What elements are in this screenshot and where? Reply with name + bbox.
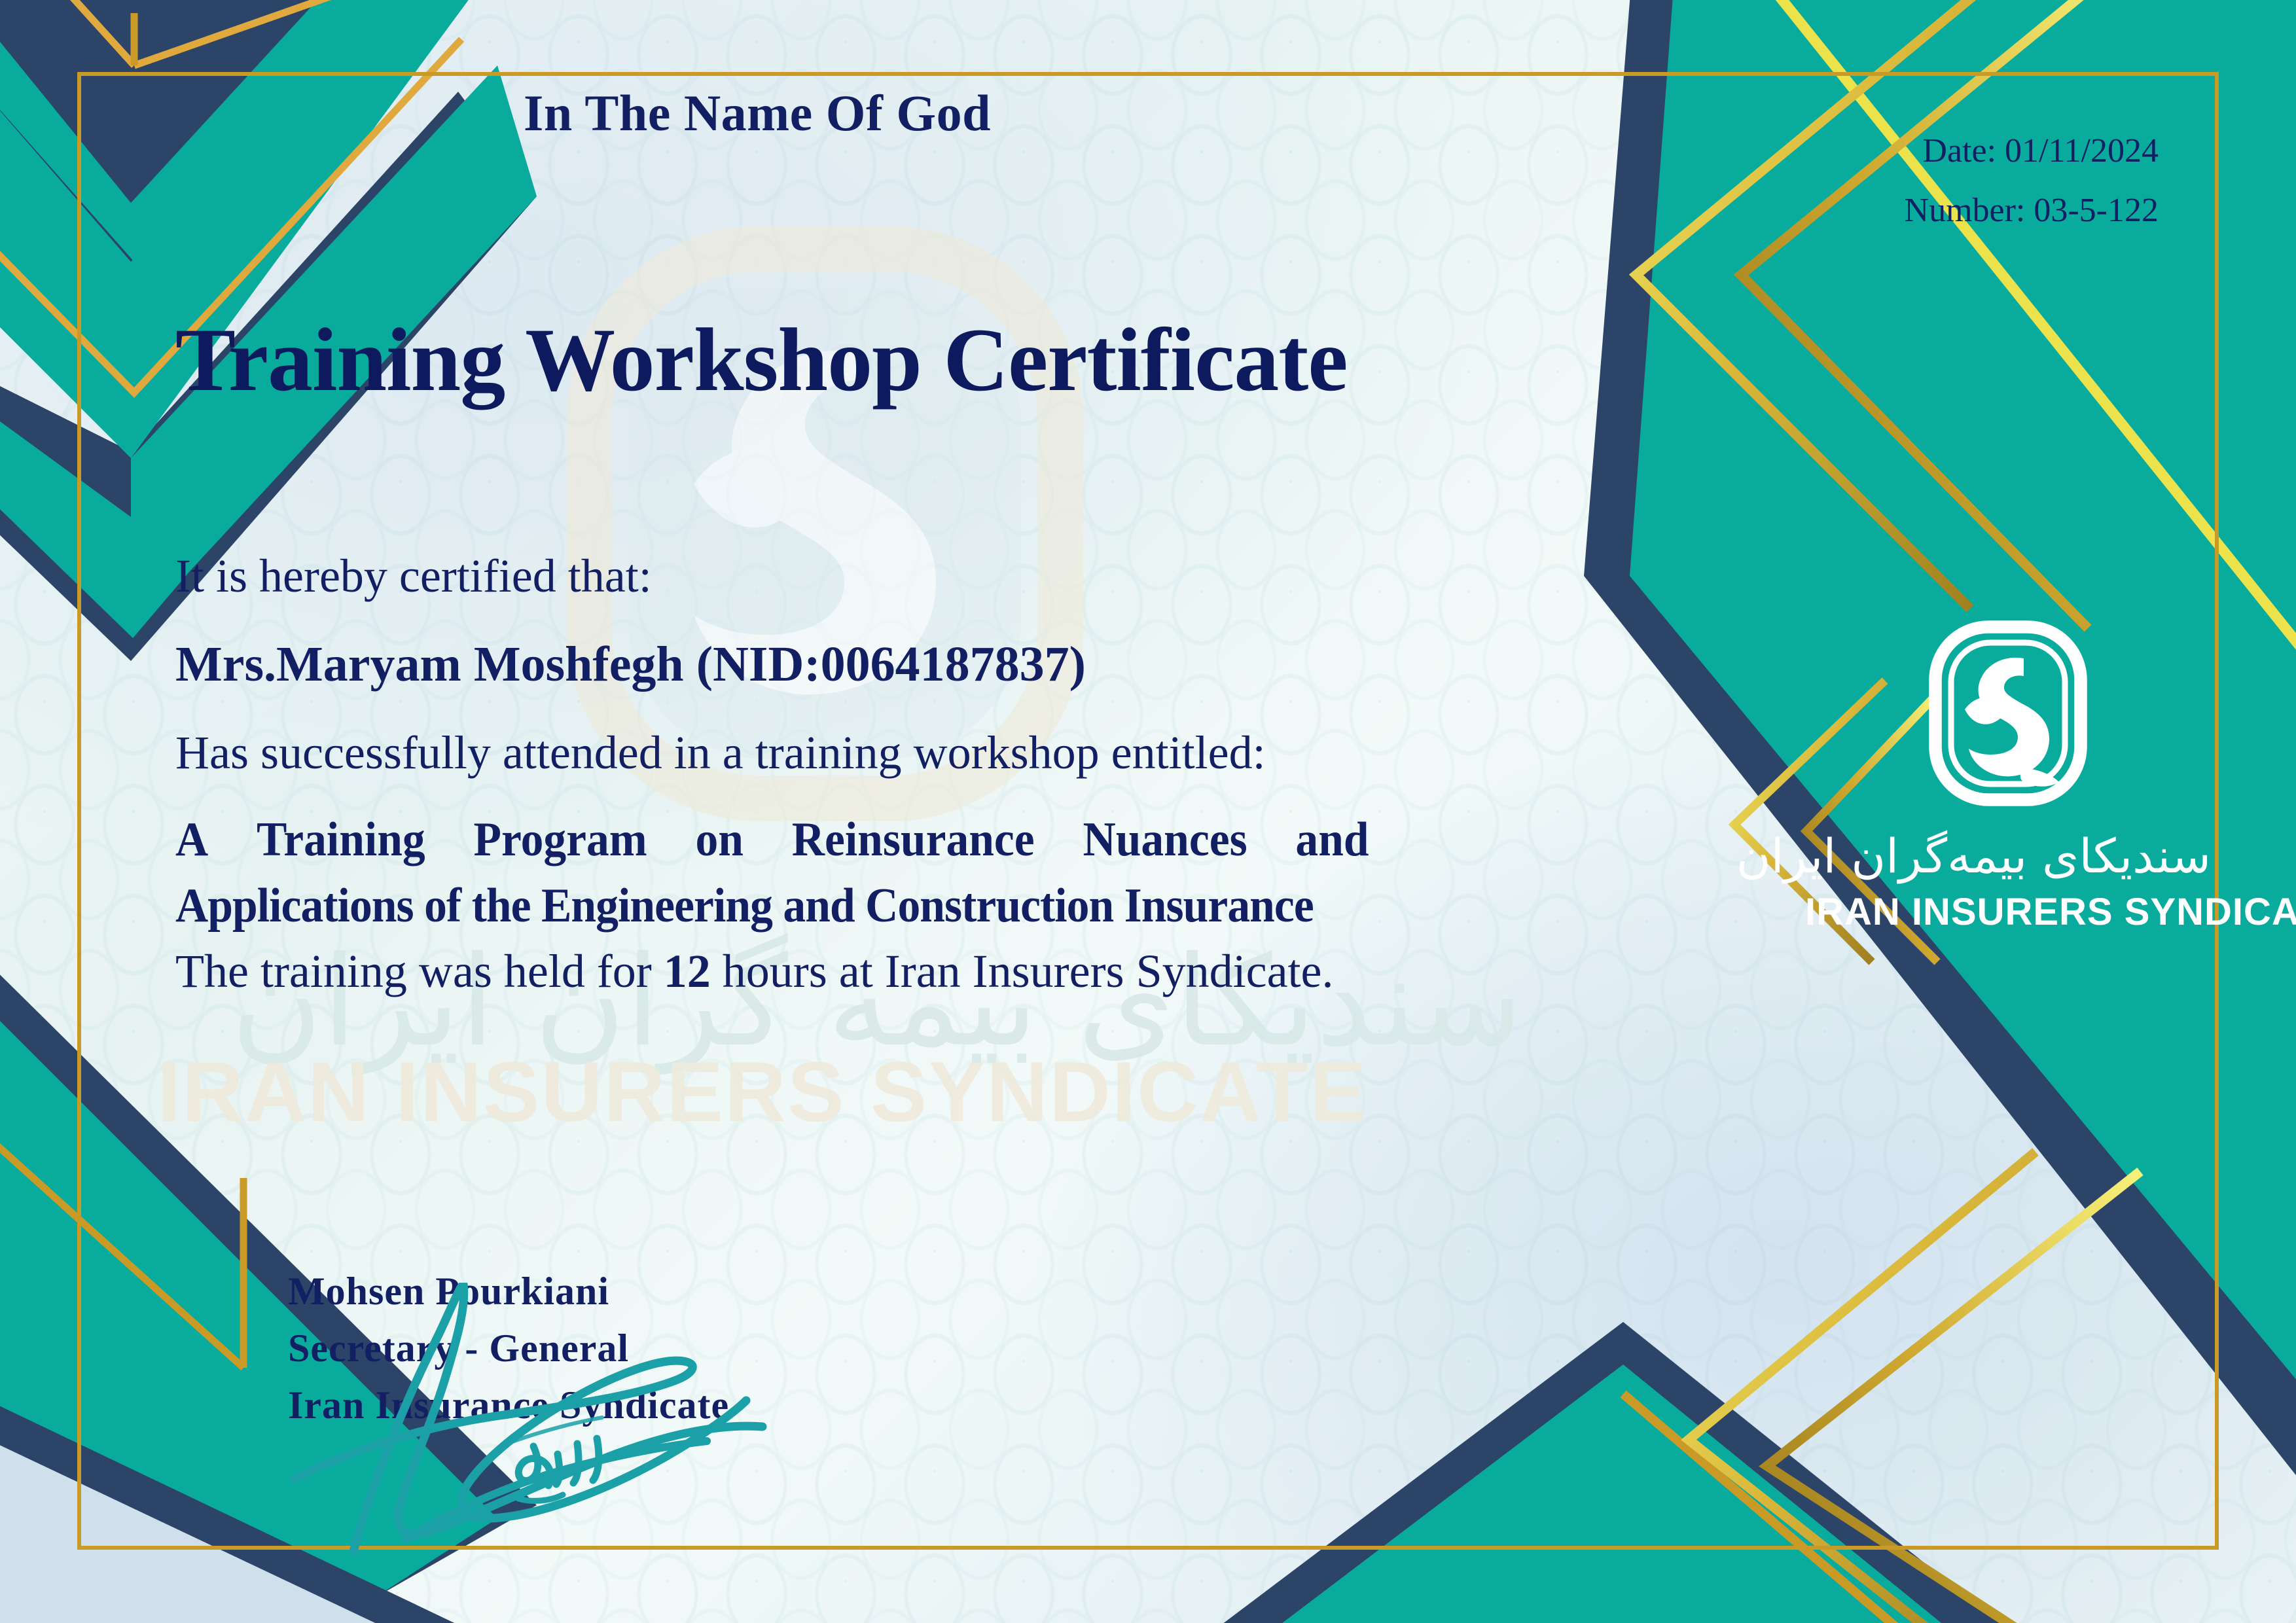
page-title: Training Workshop Certificate [175, 308, 1348, 412]
workshop-word: A [175, 813, 208, 867]
workshop-word: Reinsurance [792, 813, 1035, 867]
attendance-line: Has successfully attended in a training … [175, 726, 1471, 779]
workshop-word: and [1295, 813, 1369, 867]
workshop-title-line-1: A Training Program on Reinsurance Nuance… [175, 813, 1369, 867]
workshop-title-line-2: Applications of the Engineering and Cons… [175, 879, 1369, 933]
certify-line: It is hereby certified that: [175, 550, 1471, 603]
logo-english-label: IRAN INSURERS SYNDICATE [1805, 890, 2211, 934]
hours-suffix: hours at Iran Insurers Syndicate. [711, 945, 1334, 997]
workshop-word: Program [473, 813, 647, 867]
signatory-org: Iran Insurance Syndicate [288, 1377, 729, 1434]
syndicate-logo-block: سندیکای بیمه‌گران ایران IRAN INSURERS SY… [1805, 615, 2211, 934]
hours-line: The training was held for 12 hours at Ir… [175, 945, 1471, 998]
workshop-word: Nuances [1083, 813, 1247, 867]
certificate-page: سندیکای بیمه گران ایران IRAN INSURERS SY… [0, 0, 2296, 1623]
certificate-body: It is hereby certified that: Mrs.Maryam … [175, 550, 1471, 1032]
syndicate-bird-logo-icon [1910, 615, 2106, 811]
recipient-name: Mrs.Maryam Moshfegh (NID:0064187837) [175, 637, 1471, 692]
workshop-word: Training [257, 813, 425, 867]
workshop-word: on [695, 813, 743, 867]
hours-value: 12 [664, 945, 711, 997]
logo-persian-label: سندیکای بیمه‌گران ایران [1805, 829, 2211, 883]
certificate-number: Number: 03-5-122 [1905, 181, 2159, 240]
certificate-date: Date: 01/11/2024 [1905, 121, 2159, 181]
signatory-role: Secretary - General [288, 1320, 729, 1377]
certificate-meta: Date: 01/11/2024 Number: 03-5-122 [1905, 121, 2159, 240]
signature-block: Mohsen Pourkiani Secretary - General Ira… [288, 1263, 729, 1434]
hours-prefix: The training was held for [175, 945, 664, 997]
page-header-invocation: In The Name Of God [524, 84, 991, 143]
signatory-name: Mohsen Pourkiani [288, 1263, 729, 1320]
